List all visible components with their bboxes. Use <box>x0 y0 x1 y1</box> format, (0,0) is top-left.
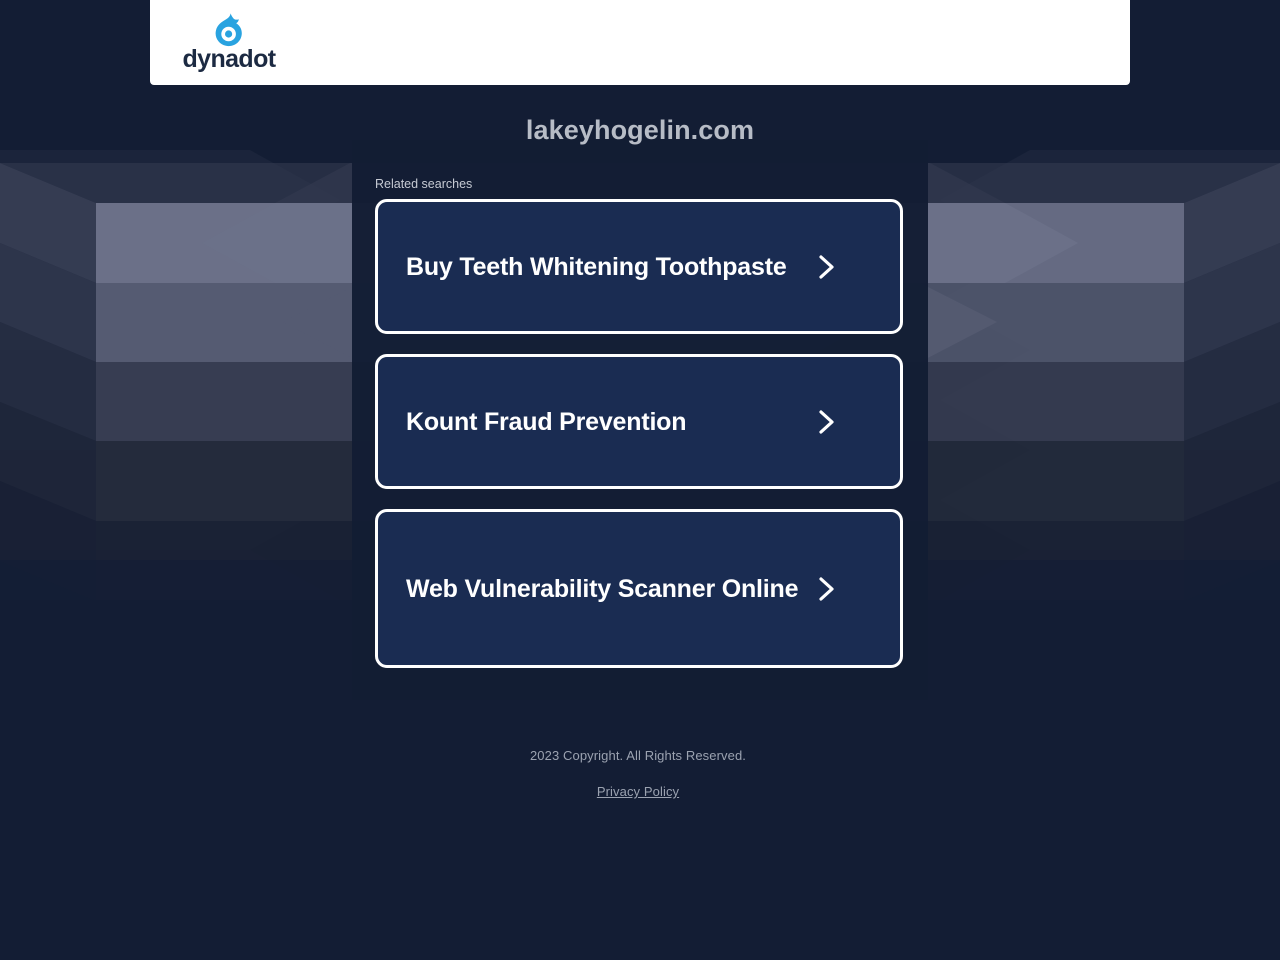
related-search-label: Buy Teeth Whitening Toothpaste <box>406 254 806 280</box>
brand-wordmark: dynadot <box>174 46 284 72</box>
dynadot-brand-logo[interactable]: dynadot <box>174 13 284 72</box>
header-band: dynadot <box>150 0 1130 85</box>
dynadot-flame-icon <box>214 13 244 47</box>
chevron-right-icon <box>816 407 838 437</box>
related-search-card-1[interactable]: Buy Teeth Whitening Toothpaste <box>375 199 903 334</box>
related-search-card-2[interactable]: Kount Fraud Prevention <box>375 354 903 489</box>
chevron-right-icon <box>816 574 838 604</box>
footer: 2023 Copyright. All Rights Reserved. Pri… <box>0 748 1276 801</box>
copyright-text: 2023 Copyright. All Rights Reserved. <box>0 748 1276 763</box>
related-searches-label: Related searches <box>375 177 905 191</box>
page-title: lakeyhogelin.com <box>0 115 1280 146</box>
related-search-card-3[interactable]: Web Vulnerability Scanner Online <box>375 509 903 668</box>
related-search-label: Kount Fraud Prevention <box>406 409 806 435</box>
related-search-label: Web Vulnerability Scanner Online <box>406 576 806 602</box>
parked-domain-page: dynadot lakeyhogelin.com Related searche… <box>0 0 1280 960</box>
chevron-right-icon <box>816 252 838 282</box>
related-searches-section: Related searches Buy Teeth Whitening Too… <box>375 177 905 688</box>
privacy-policy-link[interactable]: Privacy Policy <box>597 784 679 799</box>
